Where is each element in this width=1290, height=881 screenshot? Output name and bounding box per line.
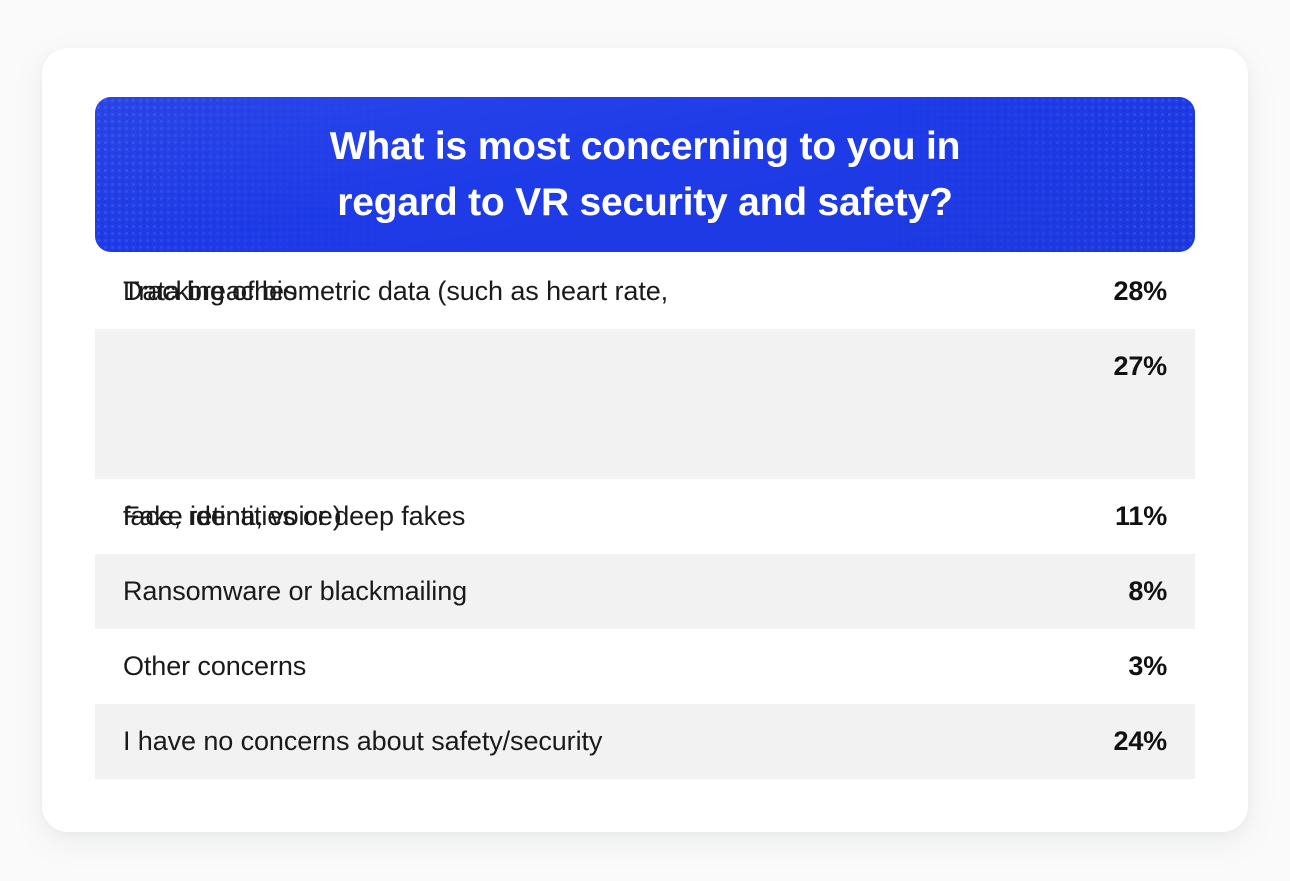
results-table: Data breaches 28% Tracking of biometric …	[95, 254, 1195, 779]
row-value: 28%	[1114, 276, 1167, 307]
row-value: 8%	[1128, 576, 1167, 607]
table-row: I have no concerns about safety/security…	[95, 704, 1195, 779]
table-row: Tracking of biometric data (such as hear…	[95, 329, 1195, 479]
row-label: Fake identities or deep fakes	[123, 479, 465, 554]
row-label: I have no concerns about safety/security	[123, 704, 602, 779]
row-label: Other concerns	[123, 629, 306, 704]
row-value: 27%	[1114, 329, 1167, 404]
row-value: 11%	[1115, 501, 1167, 532]
survey-result-card: What is most concerning to you in regard…	[42, 48, 1248, 832]
row-label: Ransomware or blackmailing	[123, 554, 467, 629]
row-label-line-1: Tracking of biometric data (such as hear…	[123, 254, 668, 329]
row-value: 24%	[1114, 726, 1167, 757]
row-value: 3%	[1128, 651, 1167, 682]
